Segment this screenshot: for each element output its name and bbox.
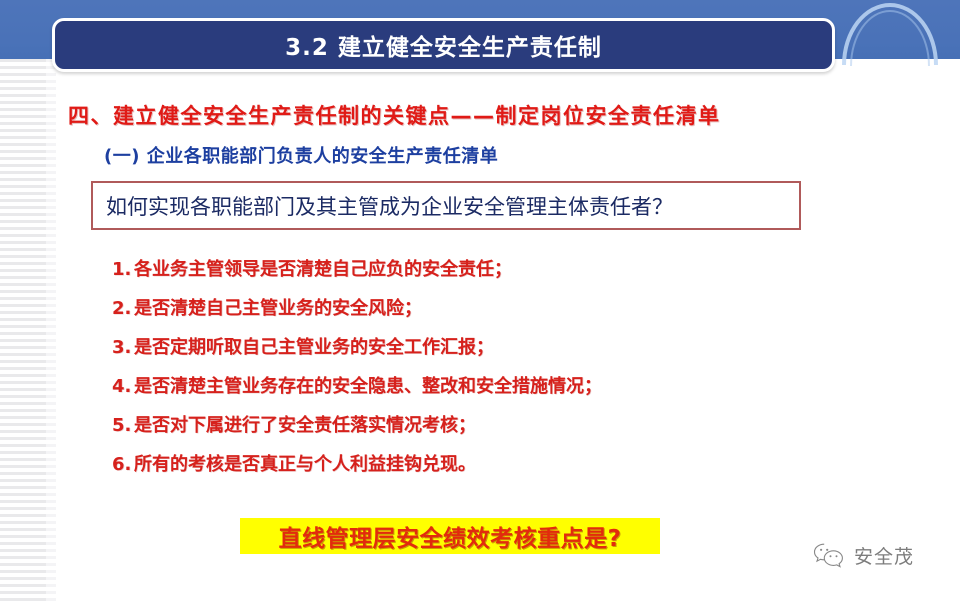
list-item-number: 5. bbox=[112, 415, 134, 436]
list-item: 2. 是否清楚自己主管业务的安全风险； bbox=[112, 294, 872, 333]
section-heading-red: 四、建立健全安全生产责任制的关键点——制定岗位安全责任清单 bbox=[68, 100, 868, 130]
wechat-logo-icon bbox=[812, 541, 846, 569]
list-item: 3. 是否定期听取自己主管业务的安全工作汇报； bbox=[112, 333, 872, 372]
list-item: 4. 是否清楚主管业务存在的安全隐患、整改和安全措施情况； bbox=[112, 372, 872, 411]
list-item: 6. 所有的考核是否真正与个人利益挂钩兑现。 bbox=[112, 450, 872, 489]
question-text: 如何实现各职能部门及其主管成为企业安全管理主体责任者？ bbox=[106, 191, 673, 221]
list-item-label: 所有的考核是否真正与个人利益挂钩兑现。 bbox=[134, 450, 476, 476]
highlighted-question-text: 直线管理层安全绩效考核重点是? bbox=[279, 519, 622, 553]
highlighted-question: 直线管理层安全绩效考核重点是? bbox=[240, 518, 660, 554]
list-item-label: 是否清楚自己主管业务的安全风险； bbox=[134, 294, 422, 320]
list-item-number: 3. bbox=[112, 337, 134, 358]
left-stripe-decoration-secondary bbox=[46, 59, 56, 601]
list-item: 5. 是否对下属进行了安全责任落实情况考核； bbox=[112, 411, 872, 450]
section-subheading-blue: (一) 企业各职能部门负责人的安全生产责任清单 bbox=[104, 142, 904, 168]
left-stripe-decoration bbox=[0, 59, 46, 601]
checklist: 1. 各业务主管领导是否清楚自己应负的安全责任； 2. 是否清楚自己主管业务的安… bbox=[112, 255, 872, 489]
list-item-label: 各业务主管领导是否清楚自己应负的安全责任； bbox=[134, 255, 512, 281]
list-item-number: 6. bbox=[112, 454, 134, 475]
watermark: 安全茂 bbox=[812, 541, 914, 569]
list-item-number: 4. bbox=[112, 376, 134, 397]
list-item-label: 是否定期听取自己主管业务的安全工作汇报； bbox=[134, 333, 494, 359]
list-item-label: 是否清楚主管业务存在的安全隐患、整改和安全措施情况； bbox=[134, 372, 602, 398]
watermark-label: 安全茂 bbox=[854, 542, 914, 569]
presentation-slide: 3.2 建立健全安全生产责任制 四、建立健全安全生产责任制的关键点——制定岗位安… bbox=[0, 0, 960, 601]
list-item-label: 是否对下属进行了安全责任落实情况考核； bbox=[134, 411, 476, 437]
question-box: 如何实现各职能部门及其主管成为企业安全管理主体责任者？ bbox=[91, 181, 801, 230]
list-item-number: 2. bbox=[112, 298, 134, 319]
list-item-number: 1. bbox=[112, 259, 134, 280]
list-item: 1. 各业务主管领导是否清楚自己应负的安全责任； bbox=[112, 255, 872, 294]
slide-title-bar: 3.2 建立健全安全生产责任制 bbox=[52, 18, 835, 72]
page-title: 3.2 建立健全安全生产责任制 bbox=[285, 28, 602, 62]
